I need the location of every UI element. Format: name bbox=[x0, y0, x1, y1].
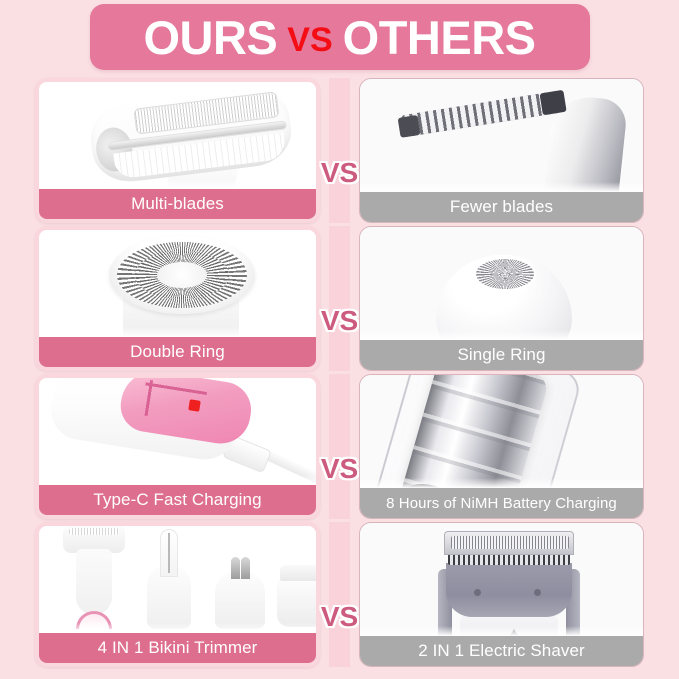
four-attachment-heads-icon bbox=[39, 526, 316, 633]
comparison-row: 4 IN 1 Bikini Trimmer VS 2 IN 1 bbox=[0, 522, 679, 667]
ours-label: Type-C Fast Charging bbox=[39, 485, 316, 515]
theirs-card[interactable]: Fewer blades bbox=[359, 78, 644, 223]
ours-product-image bbox=[39, 378, 316, 485]
theirs-label: Fewer blades bbox=[360, 192, 643, 222]
electric-shaver-icon bbox=[360, 523, 643, 636]
vs-separator-badge: VS bbox=[321, 159, 358, 187]
nimh-battery-icon bbox=[360, 375, 643, 488]
theirs-product-image bbox=[360, 79, 643, 192]
theirs-card[interactable]: 8 Hours of NiMH Battery Charging bbox=[359, 374, 644, 519]
ours-label: Double Ring bbox=[39, 337, 316, 367]
theirs-label: 8 Hours of NiMH Battery Charging bbox=[360, 488, 643, 518]
theirs-card[interactable]: 2 IN 1 Electric Shaver bbox=[359, 522, 644, 667]
theirs-card[interactable]: Single Ring bbox=[359, 226, 644, 371]
comparison-row: Double Ring VS Single Ring bbox=[0, 226, 679, 371]
usb-c-charging-device-icon bbox=[39, 378, 316, 485]
ours-product-image bbox=[39, 526, 316, 633]
single-ring-dome-icon bbox=[360, 227, 643, 340]
ours-product-image bbox=[39, 82, 316, 189]
theirs-product-image bbox=[360, 523, 643, 636]
metal-trimmer-blade-icon bbox=[360, 79, 643, 192]
comparison-row: Type-C Fast Charging VS 8 Hours of NiMH … bbox=[0, 374, 679, 519]
vs-separator-badge: VS bbox=[321, 603, 358, 631]
ours-card[interactable]: Multi-blades bbox=[35, 78, 320, 223]
theirs-label: Single Ring bbox=[360, 340, 643, 370]
vs-divider-strip bbox=[329, 522, 350, 667]
header-banner: OURS VS OTHERS bbox=[90, 4, 590, 70]
vs-divider-strip bbox=[329, 226, 350, 371]
theirs-label: 2 IN 1 Electric Shaver bbox=[360, 636, 643, 666]
ours-card[interactable]: 4 IN 1 Bikini Trimmer bbox=[35, 522, 320, 667]
header-ours-text: OURS bbox=[143, 14, 277, 61]
theirs-product-image bbox=[360, 227, 643, 340]
ours-product-image bbox=[39, 230, 316, 337]
header: OURS VS OTHERS bbox=[0, 0, 679, 78]
foil-shaver-head-icon bbox=[39, 82, 316, 189]
ours-label: Multi-blades bbox=[39, 189, 316, 219]
comparison-row: Multi-blades VS Fewer blades bbox=[0, 78, 679, 223]
header-others-text: OTHERS bbox=[343, 14, 536, 61]
header-vs-text: VS bbox=[287, 23, 332, 57]
theirs-product-image bbox=[360, 375, 643, 488]
vs-separator-badge: VS bbox=[321, 455, 358, 483]
double-ring-head-icon bbox=[39, 230, 316, 337]
ours-label: 4 IN 1 Bikini Trimmer bbox=[39, 633, 316, 663]
vs-separator-badge: VS bbox=[321, 307, 358, 335]
ours-card[interactable]: Double Ring bbox=[35, 226, 320, 371]
comparison-grid: Multi-blades VS Fewer blades bbox=[0, 78, 679, 667]
ours-card[interactable]: Type-C Fast Charging bbox=[35, 374, 320, 519]
vs-divider-strip bbox=[329, 78, 350, 223]
vs-divider-strip bbox=[329, 374, 350, 519]
